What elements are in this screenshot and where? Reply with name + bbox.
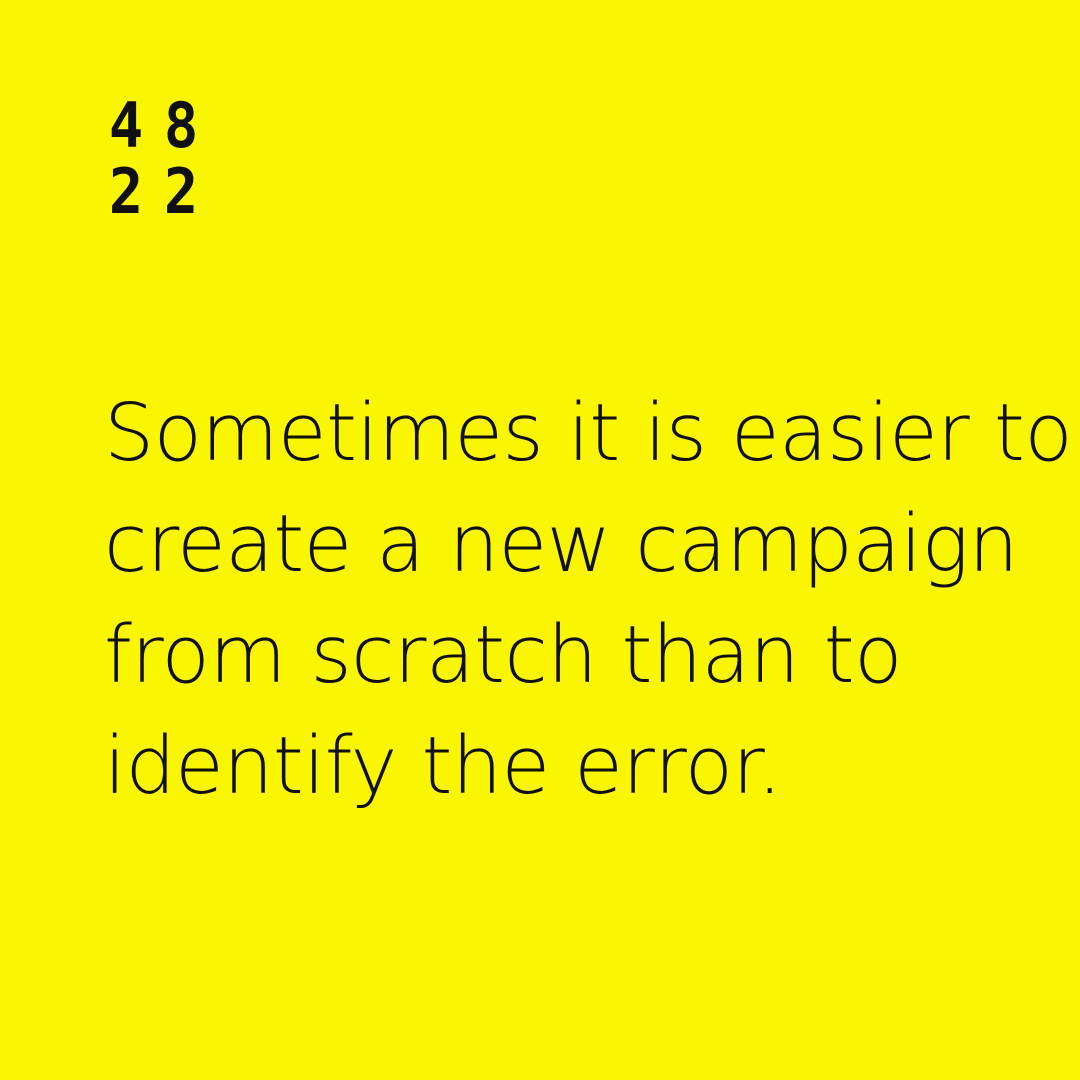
digit: 2 bbox=[109, 166, 144, 218]
number-row: 2 2 bbox=[107, 166, 200, 218]
quote-line: from scratch than to bbox=[104, 600, 984, 711]
number-row: 4 8 bbox=[107, 100, 200, 152]
digit: 2 bbox=[164, 166, 199, 218]
digit: 4 bbox=[109, 100, 144, 152]
quote-line: identify the error. bbox=[104, 711, 984, 822]
digit: 8 bbox=[164, 100, 199, 152]
number-block: 4 8 2 2 bbox=[107, 100, 200, 218]
quote-line: Sometimes it is easier to bbox=[104, 378, 984, 489]
quote-card: 4 8 2 2 Sometimes it is easier to create… bbox=[0, 0, 1080, 1080]
quote-line: create a new campaign bbox=[104, 489, 984, 600]
quote-text: Sometimes it is easier to create a new c… bbox=[104, 378, 984, 822]
